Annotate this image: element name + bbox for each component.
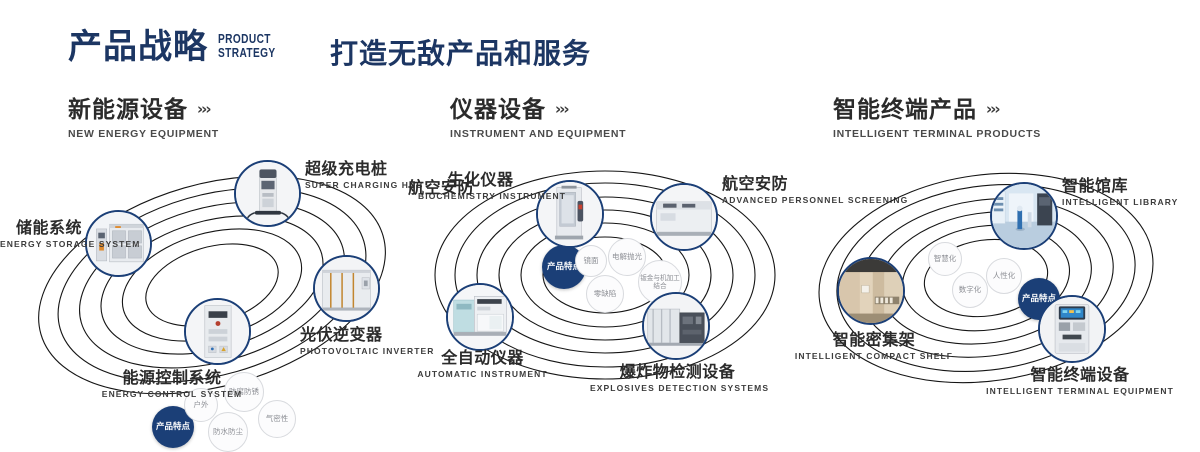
section-heading-new-energy: 新能源设备››› NEW ENERGY EQUIPMENT: [68, 96, 219, 140]
page-subtitle: 打造无敌产品和服务: [330, 32, 591, 72]
section-heading-instrument: 仪器设备››› INSTRUMENT AND EQUIPMENT: [450, 96, 626, 140]
diagram-new-energy: 产品特点 户外 防腐防锈 防水防尘 气密性 储能系统 ENERGY STOR: [0, 150, 420, 422]
chevron-right-icon: ›››: [197, 96, 210, 122]
library-room-icon: [992, 184, 1056, 248]
product-strategy-infographic: 产品战略 PRODUCT STRATEGY 打造无敌产品和服务 新能源设备›››…: [0, 0, 1200, 422]
feature-bubble: 镜面: [575, 245, 607, 277]
section-heading-cn: 新能源设备›››: [68, 96, 219, 123]
section-heading-en: INTELLIGENT TERMINAL PRODUCTS: [833, 128, 1041, 140]
node-energy-control[interactable]: [184, 298, 251, 365]
node-label-explosives-detection: 爆炸物检测设备 EXPLOSIVES DETECTION SYSTEMS: [590, 362, 765, 394]
page-title: 产品战略: [68, 28, 208, 66]
page-title-english: PRODUCT STRATEGY: [218, 32, 276, 60]
feature-bubble: 人性化: [986, 258, 1022, 294]
page-title-english-line2: STRATEGY: [218, 46, 276, 60]
diagram-intelligent-terminal: 智慧化 数字化 人性化 产品特点 智能馆库 IN: [790, 150, 1200, 422]
feature-bubble: 零缺陷: [586, 275, 624, 313]
node-label-intelligent-terminal-equipment: 智能终端设备 INTELLIGENT TERMINAL EQUIPMENT: [980, 365, 1180, 397]
node-label-automatic-instrument: 全自动仪器 AUTOMATIC INSTRUMENT: [400, 348, 565, 380]
diagram-instrument: 产品特点 镜面 电解抛光 零缺陷 钣金与机加工结合 生化仪器 BIOCHEMIS…: [400, 150, 820, 422]
section-heading-cn: 智能终端产品›››: [833, 96, 1041, 123]
feature-bubble: 防水防尘: [208, 412, 248, 452]
charging-pile-icon: [236, 162, 299, 225]
chevron-right-icon: ›››: [555, 96, 568, 122]
screening-machine-icon: [652, 185, 716, 249]
feature-bubble: 智慧化: [928, 242, 962, 276]
node-label-intelligent-compact-shelf: 智能密集架 INTELLIGENT COMPACT SHELF: [790, 330, 958, 362]
explosive-detector-icon: [644, 294, 708, 358]
feature-bubble: 气密性: [258, 400, 296, 438]
feature-bubble: 数字化: [952, 272, 988, 308]
node-label-aviation-security-left: 航空安防: [408, 178, 474, 197]
compact-shelf-icon: [839, 259, 903, 323]
node-intelligent-compact-shelf[interactable]: [837, 257, 905, 325]
node-super-charging-hub[interactable]: [234, 160, 301, 227]
page-header: 产品战略 PRODUCT STRATEGY 打造无敌产品和服务: [0, 0, 1200, 88]
section-heading-cn: 仪器设备›››: [450, 96, 626, 123]
node-intelligent-library[interactable]: [990, 182, 1058, 250]
node-intelligent-terminal-equipment[interactable]: [1038, 295, 1106, 363]
node-pv-inverter[interactable]: [313, 255, 380, 322]
node-automatic-instrument[interactable]: [446, 283, 514, 351]
section-heading-en: NEW ENERGY EQUIPMENT: [68, 128, 219, 140]
page-title-english-line1: PRODUCT: [218, 32, 276, 46]
pv-inverter-cabinet-icon: [315, 257, 378, 320]
node-label-intelligent-library: 智能馆库 INTELLIGENT LIBRARY: [1062, 176, 1192, 208]
node-explosives-detection[interactable]: [642, 292, 710, 360]
section-heading-intelligent-terminal: 智能终端产品››› INTELLIGENT TERMINAL PRODUCTS: [833, 96, 1041, 140]
node-advanced-personnel-screening[interactable]: [650, 183, 718, 251]
automatic-instrument-icon: [448, 285, 512, 349]
control-cabinet-icon: [186, 300, 249, 363]
self-service-kiosk-icon: [1040, 297, 1104, 361]
section-heading-en: INSTRUMENT AND EQUIPMENT: [450, 128, 626, 140]
node-label-energy-control: 能源控制系统 ENERGY CONTROL SYSTEM: [72, 368, 272, 400]
chevron-right-icon: ›››: [986, 96, 999, 122]
node-label-energy-storage: 储能系统 ENERGY STORAGE SYSTEM: [0, 218, 82, 250]
